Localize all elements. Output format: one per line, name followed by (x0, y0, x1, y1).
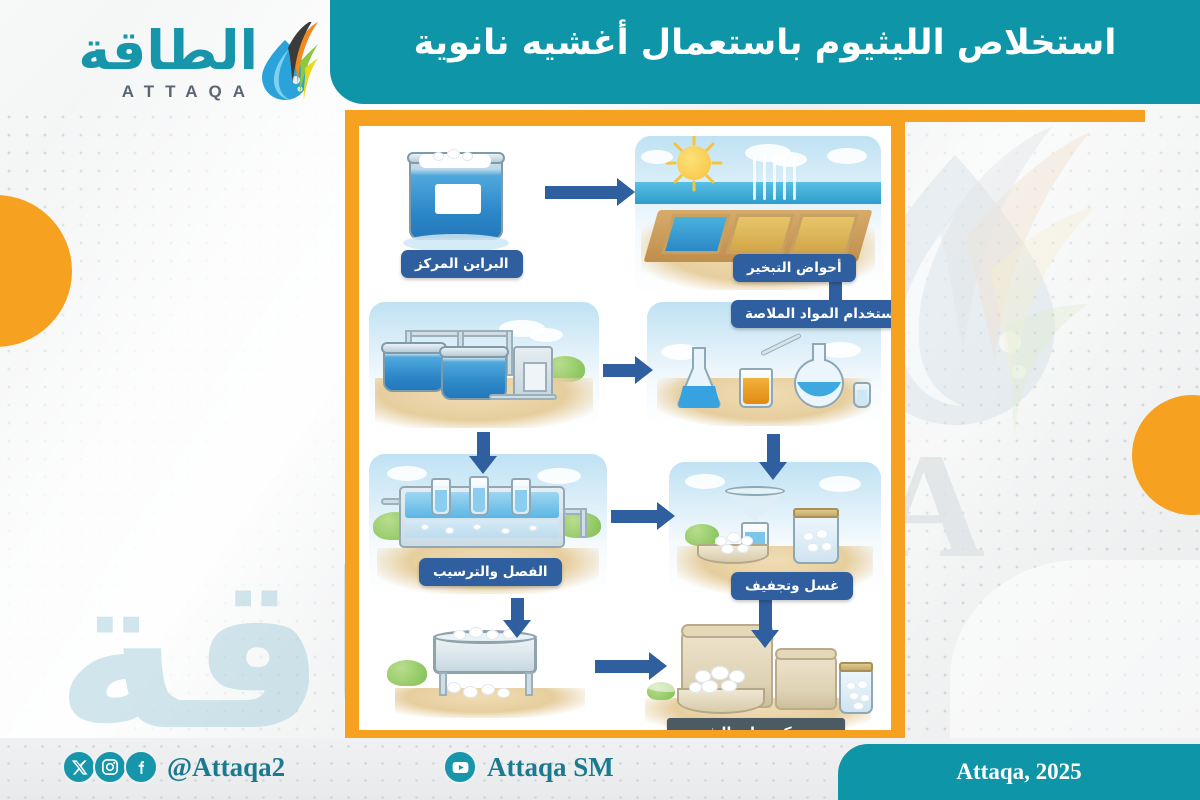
page-title: استخلاص الليثيوم باستعمال أغشيه نانوية (330, 22, 1200, 66)
step-evaporation-ponds[interactable]: أحواض التبخير (635, 136, 881, 296)
arrow-filter-to-product (595, 660, 651, 673)
product-jar-icon (839, 668, 873, 714)
tank-icon (383, 346, 445, 392)
youtube-link[interactable]: Attaqa SM (443, 750, 614, 784)
final-product-label: منتح كربونات اليثيوم (667, 718, 845, 730)
step-separation-settling[interactable]: الفصل والترسيب (369, 454, 607, 596)
arrow-plant-to-adsorbent (603, 364, 637, 377)
step-label: استخدام المواد الملاصة (731, 300, 891, 328)
social-handle[interactable]: @Attaqa2 (167, 752, 285, 783)
credit-text: Attaqa, 2025 (956, 759, 1081, 785)
step-label: أحواض التبخير (733, 254, 856, 282)
screenshot-root: طاقة A الطاقة ATTAQA استخلاص الليثيوم با… (0, 0, 1200, 800)
infographic-frame: البراين المركز (345, 112, 905, 744)
x-twitter-icon[interactable] (62, 750, 96, 784)
arrow-adsorbent-to-wash (767, 434, 780, 464)
step-concentrated-brine[interactable]: البراين المركز (373, 140, 543, 290)
step-extraction-plant[interactable] (369, 302, 599, 430)
logo-arabic-text: الطاقة (78, 24, 258, 78)
filter-drum-icon (381, 616, 601, 726)
brine-tank-icon (409, 156, 503, 240)
logo-latin-text: ATTAQA (122, 82, 256, 102)
beaker-icon (739, 368, 773, 408)
youtube-icon[interactable] (443, 750, 477, 784)
arrow-separation-to-wash (611, 510, 659, 523)
arrow-plant-to-separation (477, 432, 490, 458)
processing-unit-icon (513, 346, 553, 398)
jar-icon (793, 514, 839, 564)
arrow-wash-to-product (759, 598, 772, 632)
step-adsorbent-materials[interactable]: استخدام المواد الملاصة (647, 302, 881, 430)
tank-icon (441, 350, 507, 400)
step-wash-dry[interactable]: غسل وتجفيف (669, 462, 881, 596)
step-filter-drum[interactable] (381, 616, 601, 726)
instagram-icon[interactable] (93, 750, 127, 784)
salt-bowl-icon (677, 688, 765, 714)
vial-icon (853, 382, 871, 408)
youtube-label: Attaqa SM (487, 752, 614, 783)
settling-tanks-icon (369, 302, 599, 430)
arrow-brine-to-ponds (545, 186, 619, 199)
medium-sack-icon (775, 652, 837, 710)
brand-logo: الطاقة ATTAQA (38, 22, 318, 106)
step-label: البراين المركز (401, 250, 523, 278)
social-links: @Attaqa2 (62, 750, 285, 784)
header-bar: استخلاص الليثيوم باستعمال أغشيه نانوية (330, 0, 1200, 104)
step-label: الفصل والترسيب (419, 558, 562, 586)
footer: @Attaqa2 Attaqa SM Attaqa, 2025 (0, 738, 1200, 800)
credit-badge: Attaqa, 2025 (838, 744, 1200, 800)
step-label: غسل وتجفيف (731, 572, 853, 600)
arrow-separation-to-filter (511, 598, 524, 622)
facebook-icon[interactable] (124, 750, 158, 784)
droplet-flame-icon (260, 22, 318, 100)
infographic-canvas: البراين المركز (359, 126, 891, 730)
